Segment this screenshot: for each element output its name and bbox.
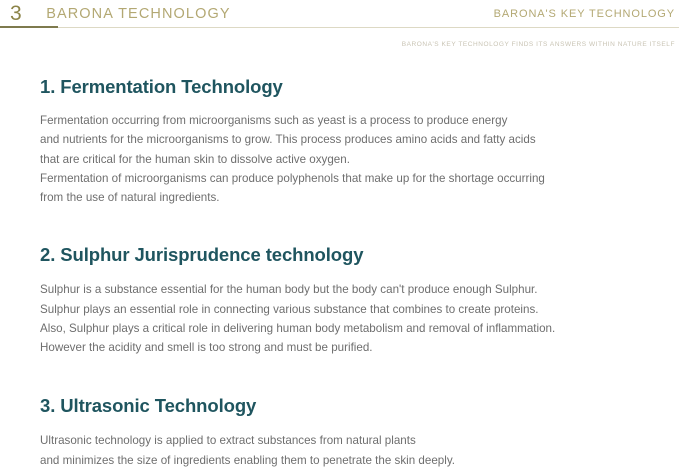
header-subtitle-row: BARONA'S KEY TECHNOLOGY FINDS ITS ANSWER…	[0, 33, 679, 51]
section-body: Fermentation occurring from microorganis…	[40, 111, 639, 207]
section-fermentation-technology: 1. Fermentation Technology Fermentation …	[40, 76, 639, 207]
page-header: 3 BARONA TECHNOLOGY BARONA'S KEY TECHNOL…	[0, 0, 679, 28]
section-heading: 3. Ultrasonic Technology	[40, 395, 639, 417]
body-line: and nutrients for the microorganisms to …	[40, 130, 639, 149]
body-line: Fermentation of microorganisms can produ…	[40, 169, 639, 188]
section-sulphur-jurisprudence-technology: 2. Sulphur Jurisprudence technology Sulp…	[40, 244, 639, 357]
body-line: However the acidity and smell is too str…	[40, 338, 639, 357]
page-title: BARONA TECHNOLOGY	[46, 6, 230, 22]
header-divider-rule	[0, 27, 679, 28]
body-line: Also, Sulphur plays a critical role in d…	[40, 319, 639, 338]
body-line: and minimizes the size of ingredients en…	[40, 451, 639, 470]
section-ultrasonic-technology: 3. Ultrasonic Technology Ultrasonic tech…	[40, 395, 639, 470]
document-content: 1. Fermentation Technology Fermentation …	[0, 76, 679, 470]
body-line: Ultrasonic technology is applied to extr…	[40, 431, 639, 450]
header-subtitle: BARONA'S KEY TECHNOLOGY FINDS ITS ANSWER…	[402, 41, 675, 48]
body-line: from the use of natural ingredients.	[40, 188, 639, 207]
body-line: Fermentation occurring from microorganis…	[40, 111, 639, 130]
section-body: Ultrasonic technology is applied to extr…	[40, 431, 639, 469]
section-heading: 2. Sulphur Jurisprudence technology	[40, 244, 639, 266]
body-line: Sulphur plays an essential role in conne…	[40, 300, 639, 319]
body-line: that are critical for the human skin to …	[40, 150, 639, 169]
header-divider-accent	[0, 26, 58, 28]
section-body: Sulphur is a substance essential for the…	[40, 280, 639, 357]
header-right-label: BARONA'S KEY TECHNOLOGY	[494, 8, 677, 20]
body-line: Sulphur is a substance essential for the…	[40, 280, 639, 299]
section-heading: 1. Fermentation Technology	[40, 76, 639, 98]
chapter-number: 3	[10, 3, 22, 26]
